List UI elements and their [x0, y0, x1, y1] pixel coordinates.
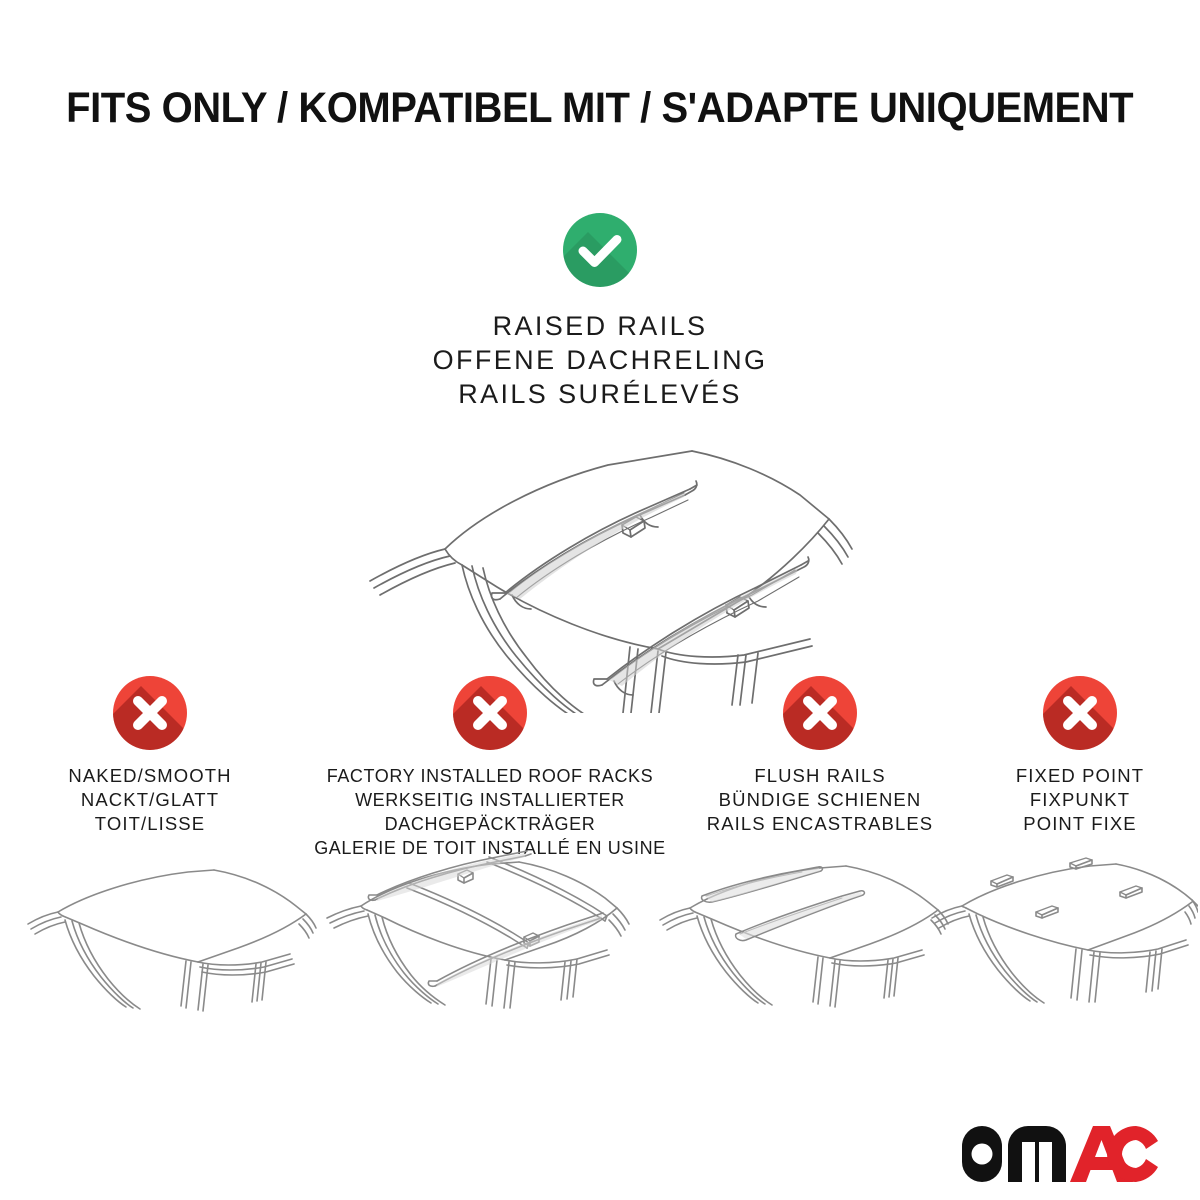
incompatible-caption-flush-rails: FLUSH RAILS BÜNDIGE SCHIENEN RAILS ENCAS…: [707, 764, 933, 836]
car-roof-raised-rails-illustration: [340, 423, 860, 718]
caption-line-fr: POINT FIXE: [1016, 812, 1144, 836]
caption-line-en: NAKED/SMOOTH: [68, 764, 231, 788]
caption-line-de-1: WERKSEITIG INSTALLIERTER: [314, 788, 666, 812]
compatible-line-en: RAISED RAILS: [433, 309, 768, 343]
incompatible-caption-naked-smooth: NAKED/SMOOTH NACKT/GLATT TOIT/LISSE: [68, 764, 231, 836]
car-roof-naked-illustration: [18, 854, 318, 1059]
car-roof-factory-racks-illustration: [315, 840, 655, 1060]
incompatible-caption-fixed-point: FIXED POINT FIXPUNKT POINT FIXE: [1016, 764, 1144, 836]
compatible-line-de: OFFENE DACHRELING: [433, 343, 768, 377]
page-title-text: FITS ONLY / KOMPATIBEL MIT / S'ADAPTE UN…: [66, 84, 1133, 133]
incompatible-illustrations: [0, 848, 1200, 1058]
incompatible-column-naked-smooth: NAKED/SMOOTH NACKT/GLATT TOIT/LISSE: [0, 676, 300, 836]
incompatible-column-fixed-point: FIXED POINT FIXPUNKT POINT FIXE: [960, 676, 1200, 836]
page-title: FITS ONLY / KOMPATIBEL MIT / S'ADAPTE UN…: [0, 84, 1200, 133]
compatible-caption: RAISED RAILS OFFENE DACHRELING RAILS SUR…: [433, 309, 768, 411]
caption-line-de: NACKT/GLATT: [68, 788, 231, 812]
cross-circle-icon: [783, 676, 857, 750]
cross-circle-icon: [113, 676, 187, 750]
omac-logo-mark: [960, 1124, 1160, 1186]
compatible-block: RAISED RAILS OFFENE DACHRELING RAILS SUR…: [0, 213, 1200, 718]
compatible-line-fr: RAILS SURÉLEVÉS: [433, 377, 768, 411]
caption-line-de: BÜNDIGE SCHIENEN: [707, 788, 933, 812]
omac-logo: OMAC: [960, 1124, 1160, 1186]
incompatible-column-flush-rails: FLUSH RAILS BÜNDIGE SCHIENEN RAILS ENCAS…: [680, 676, 960, 836]
incompatible-columns: NAKED/SMOOTH NACKT/GLATT TOIT/LISSE FACT…: [0, 676, 1200, 860]
caption-line-fr: TOIT/LISSE: [68, 812, 231, 836]
caption-line-en: FIXED POINT: [1016, 764, 1144, 788]
incompatible-column-factory-racks: FACTORY INSTALLED ROOF RACKS WERKSEITIG …: [300, 676, 680, 860]
caption-line-fr: RAILS ENCASTRABLES: [707, 812, 933, 836]
cross-circle-icon: [1043, 676, 1117, 750]
check-circle-icon: [563, 213, 637, 287]
caption-line-de-2: DACHGEPÄCKTRÄGER: [314, 812, 666, 836]
car-roof-flush-rails-illustration: [650, 850, 950, 1055]
caption-line-en: FACTORY INSTALLED ROOF RACKS: [314, 764, 666, 788]
fitment-infographic: FITS ONLY / KOMPATIBEL MIT / S'ADAPTE UN…: [0, 0, 1200, 1200]
cross-circle-icon: [453, 676, 527, 750]
car-roof-fixed-point-illustration: [928, 850, 1198, 1055]
caption-line-en: FLUSH RAILS: [707, 764, 933, 788]
caption-line-de: FIXPUNKT: [1016, 788, 1144, 812]
